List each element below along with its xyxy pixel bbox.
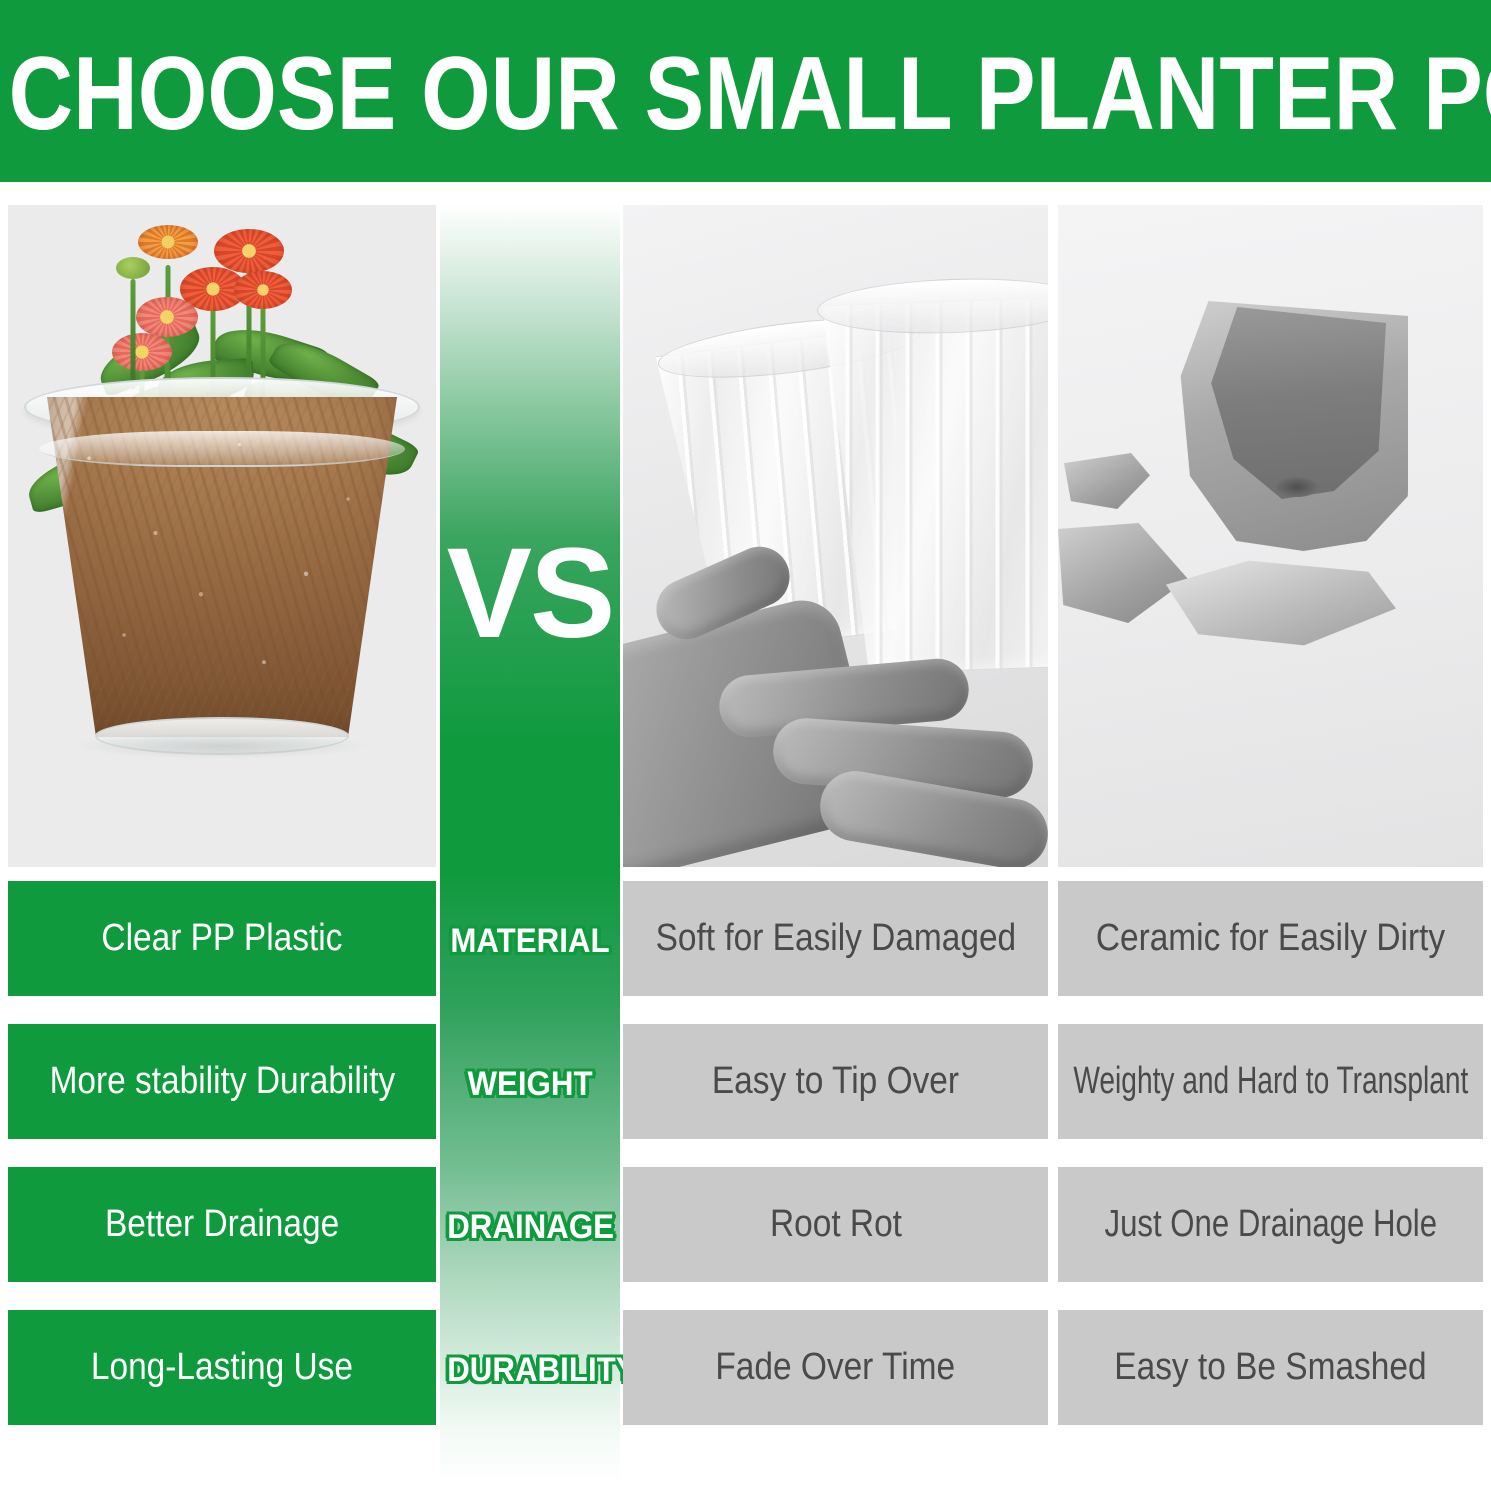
table-cell-good-material: Clear PP Plastic [8,881,436,996]
cell-text: Easy to Tip Over [712,1060,959,1103]
table-cell-ceramic-durability: Easy to Be Smashed [1058,1310,1483,1425]
cell-text: Long-Lasting Use [91,1346,353,1389]
cell-text: More stability Durability [49,1060,395,1103]
table-cell-ceramic-weight: Weighty and Hard to Transplant [1058,1024,1483,1139]
table-cell-ceramic-drainage: Just One Drainage Hole [1058,1167,1483,1282]
table-cell-good-durability: Long-Lasting Use [8,1310,436,1425]
cell-text: Clear PP Plastic [101,917,342,960]
table-cell-soft-plastic-durability: Fade Over Time [623,1310,1048,1425]
table-cell-soft-plastic-drainage: Root Rot [623,1167,1048,1282]
cell-text: Root Rot [770,1203,902,1246]
cell-text: Easy to Be Smashed [1114,1346,1426,1389]
cell-text: Soft for Easily Damaged [655,917,1016,960]
comparison-table: Clear PP Plastic Soft for Easily Damaged… [0,0,1491,1486]
cell-text: Just One Drainage Hole [1104,1203,1437,1246]
table-cell-good-weight: More stability Durability [8,1024,436,1139]
cell-text: Better Drainage [105,1203,339,1246]
cell-text: Weighty and Hard to Transplant [1073,1060,1468,1103]
table-cell-good-drainage: Better Drainage [8,1167,436,1282]
cell-text: Ceramic for Easily Dirty [1096,917,1445,960]
table-cell-soft-plastic-material: Soft for Easily Damaged [623,881,1048,996]
table-cell-ceramic-material: Ceramic for Easily Dirty [1058,881,1483,996]
cell-text: Fade Over Time [716,1346,956,1389]
table-cell-soft-plastic-weight: Easy to Tip Over [623,1024,1048,1139]
